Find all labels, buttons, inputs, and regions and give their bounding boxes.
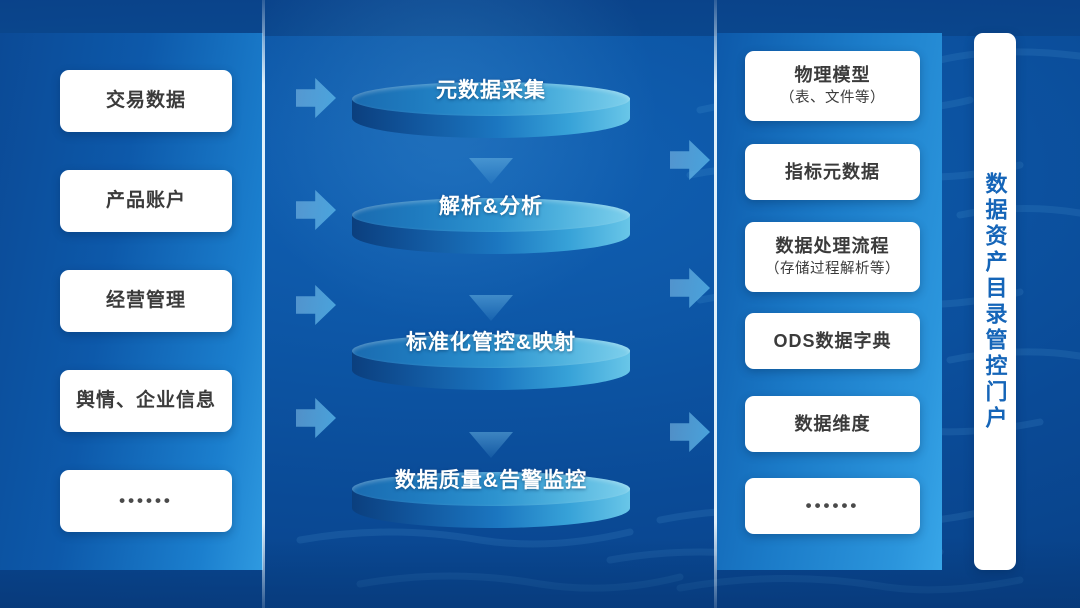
diagram-canvas: 交易数据 产品账户 经营管理 舆情、企业信息 •••••• 元数据采集 解析&分… — [0, 0, 1080, 608]
card-title: 指标元数据 — [785, 161, 880, 184]
process-step-label: 标准化管控&映射 — [352, 326, 630, 356]
card-title: 舆情、企业信息 — [76, 389, 216, 413]
list-item[interactable]: 物理模型 （表、文件等） — [745, 51, 920, 121]
process-step-label: 数据质量&告警监控 — [352, 464, 630, 494]
process-step-label: 元数据采集 — [352, 74, 630, 104]
ellipsis-placeholder: •••••• — [119, 491, 173, 511]
list-item[interactable]: 交易数据 — [60, 70, 232, 132]
column-separator-2 — [714, 0, 717, 608]
background-top-band — [0, 0, 1080, 36]
list-item[interactable]: 经营管理 — [60, 270, 232, 332]
card-subtitle: （表、文件等） — [780, 89, 885, 108]
list-item[interactable]: 数据维度 — [745, 396, 920, 452]
list-item[interactable]: ODS数据字典 — [745, 313, 920, 369]
card-subtitle: （存储过程解析等） — [765, 260, 900, 279]
card-title: ODS数据字典 — [773, 330, 891, 353]
column-separator-1 — [262, 0, 265, 608]
list-item[interactable]: 数据处理流程 （存储过程解析等） — [745, 222, 920, 292]
list-item[interactable]: 产品账户 — [60, 170, 232, 232]
card-title: 物理模型 — [795, 64, 871, 87]
process-step-label: 解析&分析 — [352, 190, 630, 220]
card-title: 产品账户 — [106, 189, 186, 213]
list-item[interactable]: •••••• — [60, 470, 232, 532]
list-item[interactable]: 舆情、企业信息 — [60, 370, 232, 432]
portal-label: 数据资产目录管控门户 — [983, 172, 1006, 432]
card-title: 经营管理 — [106, 289, 186, 313]
ellipsis-placeholder: •••••• — [806, 496, 860, 516]
card-title: 数据维度 — [795, 413, 871, 436]
card-title: 交易数据 — [106, 89, 186, 113]
portal-bar[interactable]: 数据资产目录管控门户 — [974, 33, 1016, 570]
list-item[interactable]: 指标元数据 — [745, 144, 920, 200]
list-item[interactable]: •••••• — [745, 478, 920, 534]
card-title: 数据处理流程 — [776, 235, 890, 258]
